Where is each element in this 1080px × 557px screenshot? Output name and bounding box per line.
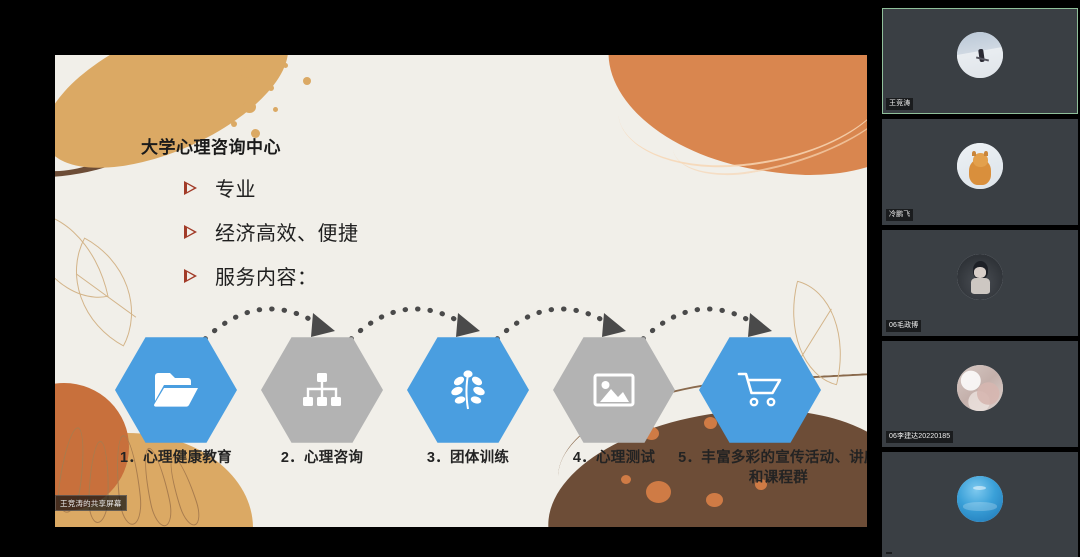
decor-dot [706,493,723,507]
decor-dot [273,107,278,112]
process-step-2[interactable] [261,335,383,445]
shared-screen-stage[interactable]: 大学心理咨询中心 专业 经济高效、便捷 服务内容： [0,0,880,557]
avatar [957,365,1003,411]
avatar [957,143,1003,189]
hexagon-shape [699,335,821,445]
decor-dot [231,121,237,127]
shopping-cart-icon [737,371,783,409]
bullet-item: 经济高效、便捷 [183,217,359,246]
bullet-text: 经济高效、便捷 [215,217,359,246]
bullet-text: 专业 [215,173,256,202]
participant-name: 06李建达20220185 [886,431,953,443]
presentation-slide: 大学心理咨询中心 专业 经济高效、便捷 服务内容： [55,55,867,527]
sitemap-icon [302,372,342,408]
participant-name: 王竞涛 [886,98,913,110]
folder-open-icon [153,371,199,409]
bullet-item: 专业 [183,173,359,202]
process-step-4[interactable] [553,335,675,445]
decor-dot [268,85,274,91]
slide-title: 大学心理咨询中心 [141,133,281,158]
participant-tile[interactable]: 冷鹏飞 [882,119,1078,225]
decor-dot [241,67,252,78]
decor-cream-blob-top-left [55,55,153,197]
decor-dot [209,83,214,88]
decor-brown-blob-top-left [55,55,246,188]
arrow-bullet-icon [183,180,201,196]
process-step-5[interactable] [699,335,821,445]
decor-dot [283,63,288,68]
image-icon [593,373,635,407]
participant-name: 冷鹏飞 [886,209,913,221]
participant-tile[interactable]: 06李建达20220185 [882,341,1078,447]
process-step-5-label: 5．丰富多彩的宣传活动、讲座和课程群 [671,449,867,488]
participant-tile[interactable]: 王竞涛 [882,8,1078,114]
decor-dot [303,77,311,85]
decor-dot [621,475,631,484]
participant-rail[interactable]: 王竞涛 冷鹏飞 06毛政博 [880,0,1080,557]
decor-swirl-line-top-right-2 [658,55,867,186]
process-steps: 1．心理健康教育 2．心理咨询 [55,319,867,469]
hexagon-shape [407,335,529,445]
participant-tile[interactable] [882,452,1078,557]
avatar [957,254,1003,300]
leaf-icon [447,369,489,411]
cat-photo [957,143,1003,189]
hexagon-shape [115,335,237,445]
decor-dot [646,481,671,503]
hexagon-shape [261,335,383,445]
share-screen-banner: 王竞涛的共享屏幕 [55,495,127,511]
avatar [957,476,1003,522]
participant-name [886,552,892,554]
abstract-photo [957,365,1003,411]
video-meeting-window: 大学心理咨询中心 专业 经济高效、便捷 服务内容： [0,0,1080,557]
process-step-1[interactable] [115,335,237,445]
avatar [957,32,1003,78]
process-step-3[interactable] [407,335,529,445]
anime-girl-photo [957,254,1003,300]
hexagon-shape [553,335,675,445]
decor-dot [243,101,256,113]
decor-swirl-line-top-right-1 [612,55,867,175]
blue-planet-photo [957,476,1003,522]
arrow-bullet-icon [183,224,201,240]
participant-name: 06毛政博 [886,320,921,332]
participant-tile[interactable]: 06毛政博 [882,230,1078,336]
decor-orange-blob-top-right [595,55,867,193]
skier-photo [957,32,1003,78]
